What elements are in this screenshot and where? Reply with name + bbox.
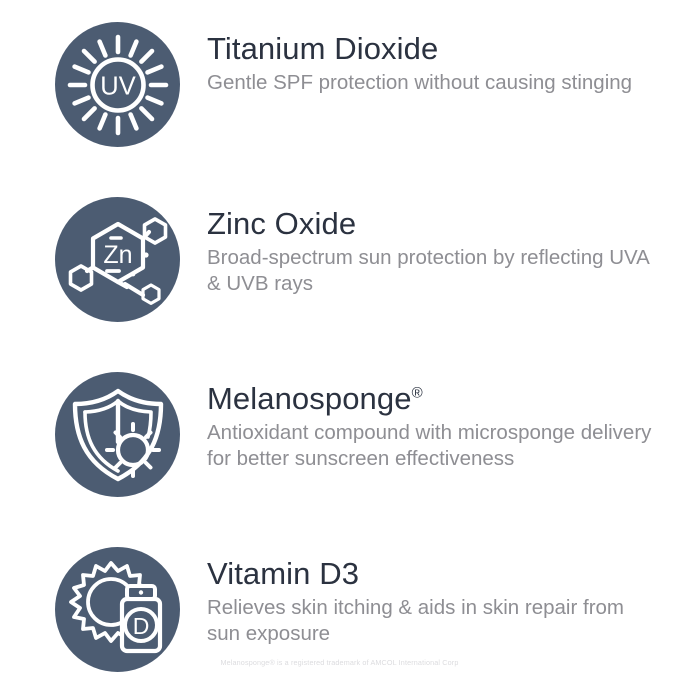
feature-text: Zinc Oxide Broad-spectrum sun protection…: [207, 197, 657, 296]
feature-description: Relieves skin itching & aids in skin rep…: [207, 592, 652, 646]
feature-title: Melanosponge®: [207, 372, 657, 417]
feature-text: Vitamin D3 Relieves skin itching & aids …: [207, 547, 657, 646]
feature-text: Melanosponge® Antioxidant compound with …: [207, 372, 657, 471]
sun-supplement-bottle-icon: D: [55, 547, 180, 672]
registered-trademark-icon: ®: [412, 385, 423, 402]
feature-row: Melanosponge® Antioxidant compound with …: [0, 372, 679, 522]
feature-title: Titanium Dioxide: [207, 22, 657, 67]
feature-description: Broad-spectrum sun protection by reflect…: [207, 242, 652, 296]
feature-description: Antioxidant compound with microsponge de…: [207, 417, 652, 471]
feature-title-text: Melanosponge: [207, 381, 412, 416]
shield-sun-icon: [55, 372, 180, 497]
feature-text: Titanium Dioxide Gentle SPF protection w…: [207, 22, 657, 96]
feature-row: D Vitamin D3 Relieves skin itching & aid…: [0, 547, 679, 697]
feature-row: Zn Zinc Oxide Broad-spectrum sun protect…: [0, 197, 679, 347]
ingredient-benefits-panel: UV Titanium Dioxide Gentle SPF protectio…: [0, 0, 679, 679]
vitamin-d-icon-label: D: [132, 613, 149, 639]
uv-icon-label: UV: [100, 72, 135, 100]
feature-title: Zinc Oxide: [207, 197, 657, 242]
zinc-icon-label: Zn: [103, 241, 132, 269]
feature-title: Vitamin D3: [207, 547, 657, 592]
uv-sun-icon: UV: [55, 22, 180, 147]
feature-row: UV Titanium Dioxide Gentle SPF protectio…: [0, 22, 679, 172]
feature-description: Gentle SPF protection without causing st…: [207, 67, 652, 96]
trademark-footnote: Melanosponge® is a registered trademark …: [0, 658, 679, 668]
zinc-molecule-icon: Zn: [55, 197, 180, 322]
